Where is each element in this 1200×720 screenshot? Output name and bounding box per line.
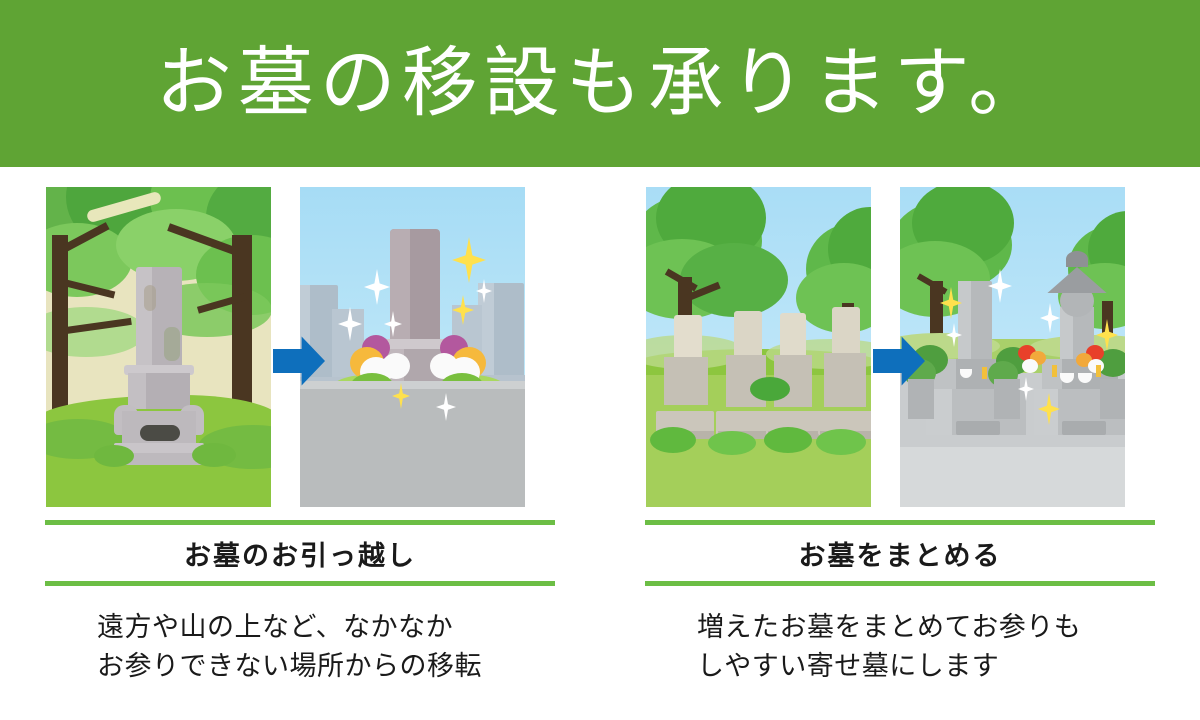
content-area: お墓のお引っ越し 遠方や山の上など、なかなか お参りできない場所からの移転: [0, 167, 1200, 720]
old-grave-in-forest-illustration: [46, 187, 271, 507]
caption-body: 増えたお墓をまとめてお参りも しやすい寄せ墓にします: [645, 586, 1195, 687]
caption-heading: お墓のお引っ越し: [45, 525, 555, 581]
page-title: お墓の移設も承ります。: [150, 46, 1050, 122]
caption-line: お参りできない場所からの移転: [97, 647, 595, 686]
section-grave-consolidation: お墓をまとめる 増えたお墓をまとめてお参りも しやすい寄せ墓にします: [640, 167, 1200, 720]
caption-heading: お墓をまとめる: [645, 525, 1155, 581]
before-after-pair: [45, 187, 595, 507]
caption-line: 遠方や山の上など、なかなか: [97, 608, 595, 647]
header-band: お墓の移設も承ります。: [0, 0, 1200, 167]
consolidated-graves-illustration: [900, 187, 1125, 507]
before-after-pair: [645, 187, 1195, 507]
scattered-graves-illustration: [646, 187, 871, 507]
caption-line: しやすい寄せ墓にします: [697, 647, 1195, 686]
new-grave-with-flowers-illustration: [300, 187, 525, 507]
caption-block: お墓をまとめる 増えたお墓をまとめてお参りも しやすい寄せ墓にします: [645, 520, 1195, 687]
caption-body: 遠方や山の上など、なかなか お参りできない場所からの移転: [45, 586, 595, 687]
section-grave-relocation: お墓のお引っ越し 遠方や山の上など、なかなか お参りできない場所からの移転: [40, 167, 600, 720]
caption-block: お墓のお引っ越し 遠方や山の上など、なかなか お参りできない場所からの移転: [45, 520, 595, 687]
caption-line: 増えたお墓をまとめてお参りも: [697, 608, 1195, 647]
